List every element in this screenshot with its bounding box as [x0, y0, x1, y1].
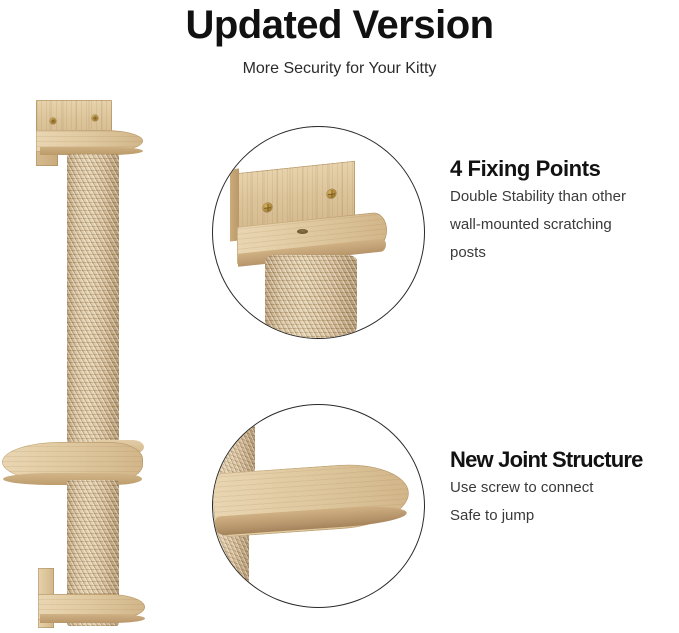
closeup-screw-hole: [297, 229, 308, 234]
upper-sisal-post: [67, 154, 119, 459]
bottom-shelf-edge: [40, 614, 145, 623]
page-title: Updated Version: [0, 2, 679, 48]
feature-block-joint-structure: New Joint Structure Use screw to connect…: [450, 446, 679, 530]
screw-icon: [92, 115, 98, 121]
feature-block-fixing-points: 4 Fixing Points Double Stability than ot…: [450, 155, 679, 267]
screw-icon: [327, 189, 336, 199]
feature-body-line: Double Stability than other: [450, 183, 679, 211]
feature-body-line: Safe to jump: [450, 502, 679, 530]
feature-heading: 4 Fixing Points: [450, 155, 679, 183]
feature-body-line: posts: [450, 239, 679, 267]
product-image-full: [0, 90, 200, 633]
feature-body-line: wall-mounted scratching: [450, 211, 679, 239]
feature-heading: New Joint Structure: [450, 446, 679, 474]
feature-body-line: Use screw to connect: [450, 474, 679, 502]
product-infographic: Updated Version More Security for Your K…: [0, 0, 679, 633]
callout-circle-joint-structure: [212, 404, 425, 608]
page-subtitle: More Security for Your Kitty: [0, 58, 679, 80]
screw-icon: [50, 118, 56, 124]
callout-circle-fixing-points: [212, 126, 425, 339]
closeup-sisal-post: [265, 255, 357, 339]
screw-icon: [263, 203, 272, 213]
